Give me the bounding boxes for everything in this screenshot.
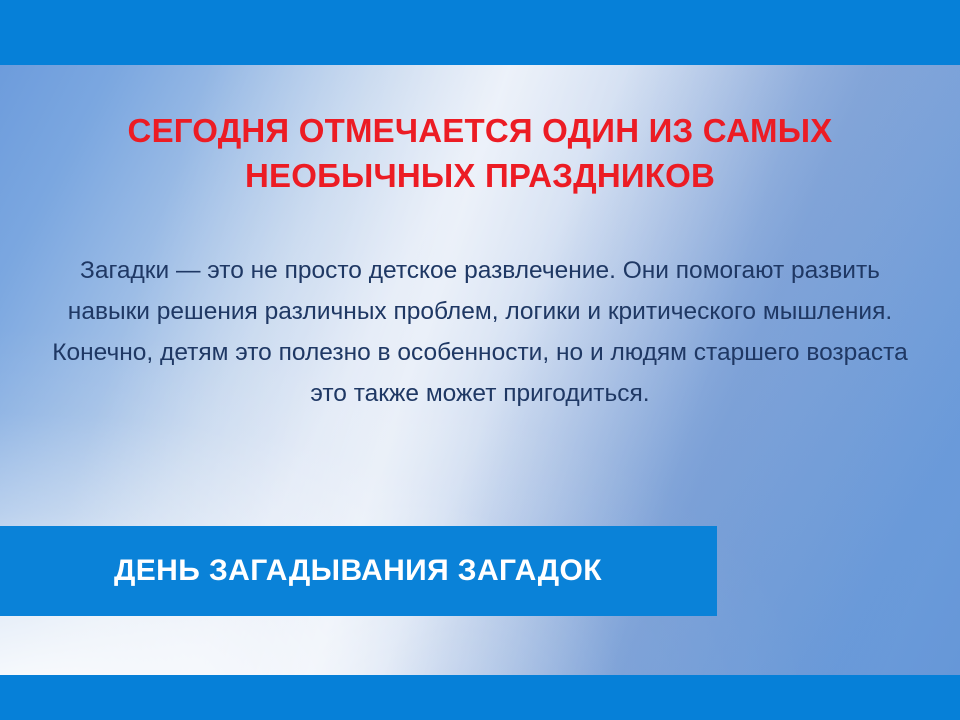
holiday-name-banner: ДЕНЬ ЗАГАДЫВАНИЯ ЗАГАДОК — [0, 526, 717, 616]
body-paragraph: Загадки — это не просто детское развлече… — [50, 250, 910, 414]
bottom-blue-bar — [0, 675, 960, 720]
holiday-name-label: ДЕНЬ ЗАГАДЫВАНИЯ ЗАГАДОК — [0, 554, 602, 588]
slide-canvas: СЕГОДНЯ ОТМЕЧАЕТСЯ ОДИН ИЗ САМЫХ НЕОБЫЧН… — [0, 0, 960, 720]
top-blue-bar — [0, 0, 960, 65]
headline-title: СЕГОДНЯ ОТМЕЧАЕТСЯ ОДИН ИЗ САМЫХ НЕОБЫЧН… — [60, 108, 900, 198]
